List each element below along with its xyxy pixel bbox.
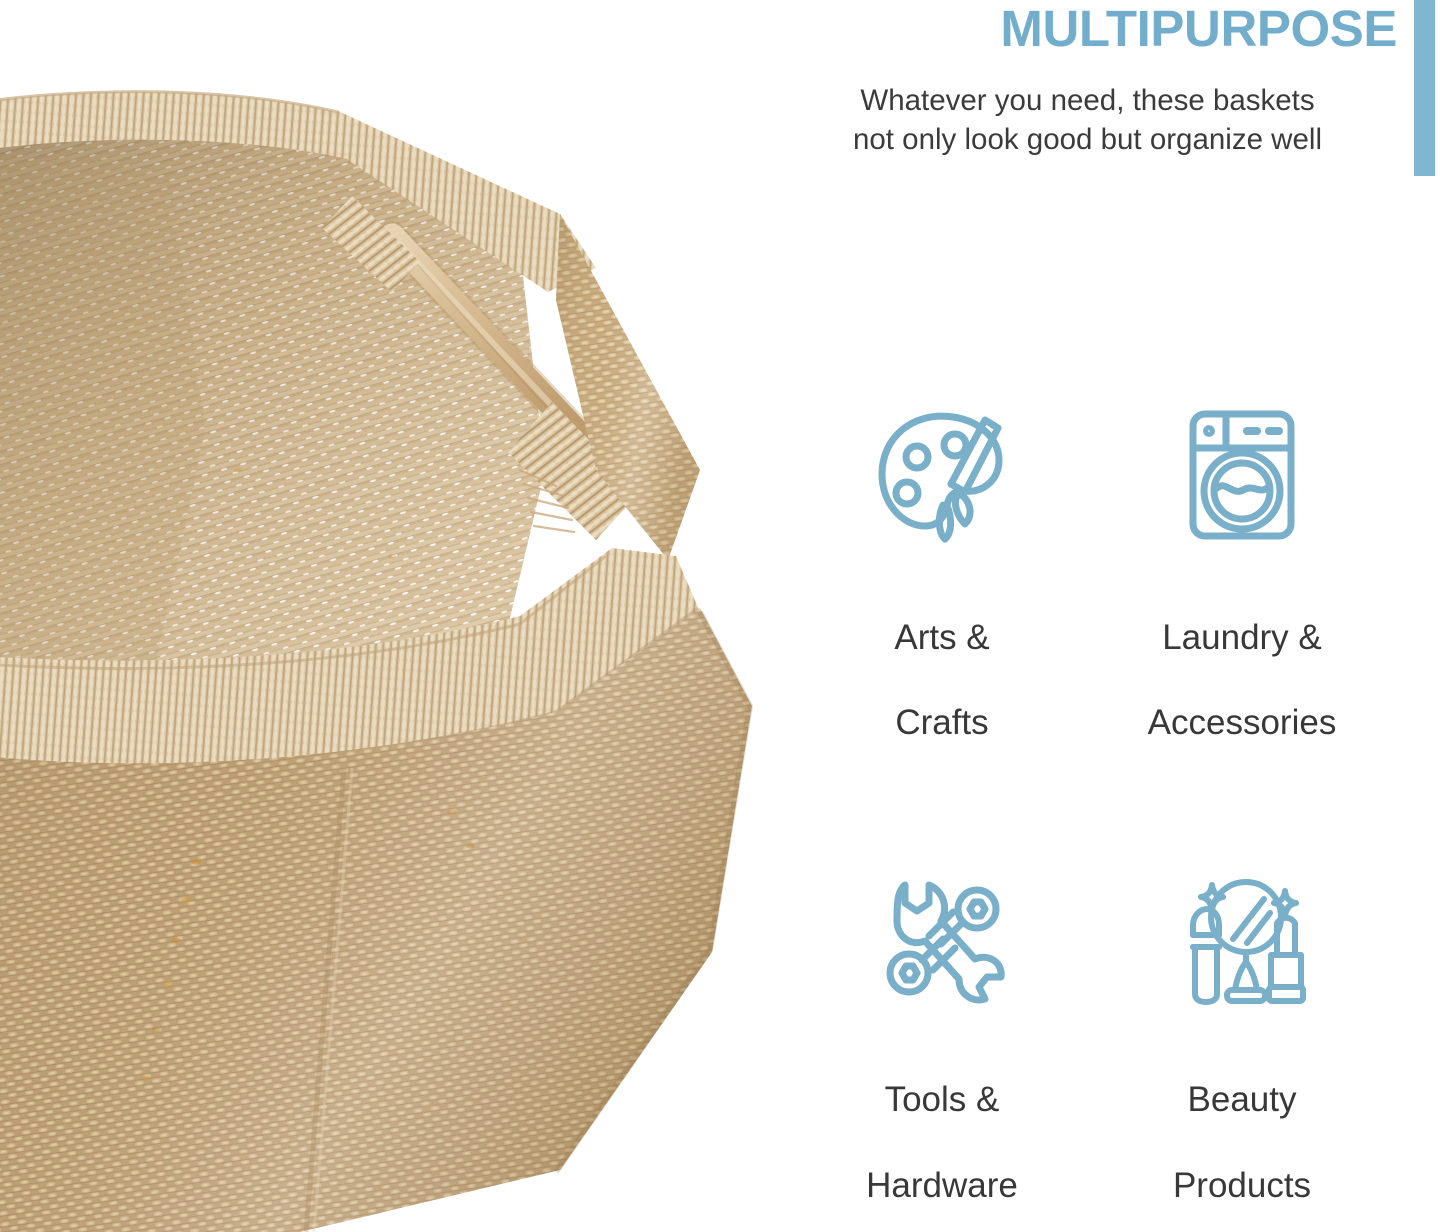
subtitle: Whatever you need, these baskets not onl… (778, 82, 1397, 160)
feature-label: Beauty Products (1173, 1037, 1311, 1208)
feature-label-line-1: Tools & (885, 1080, 1000, 1119)
product-infographic: MULTIPURPOSE Whatever you need, these ba… (0, 0, 1445, 1232)
washing-machine-icon (1167, 400, 1317, 550)
accent-bar (1414, 0, 1435, 176)
feature-label: Tools & Hardware (866, 1037, 1018, 1208)
crossed-wrenches-icon (867, 863, 1017, 1013)
feature-item-beauty-products: Beauty Products (1092, 863, 1392, 1208)
feature-label: Laundry & Accessories (1148, 574, 1337, 745)
feature-label-line-2: Accessories (1148, 703, 1337, 742)
product-photo (0, 0, 770, 1232)
info-pane: MULTIPURPOSE Whatever you need, these ba… (770, 0, 1445, 1232)
vanity-mirror-makeup-icon (1167, 863, 1317, 1013)
feature-label-line-2: Crafts (895, 703, 988, 742)
feature-label-line-1: Arts & (894, 618, 989, 657)
page-title: MULTIPURPOSE (770, 2, 1397, 56)
subtitle-line-2: not only look good but organize well (778, 121, 1397, 160)
feature-item-laundry-accessories: Laundry & Accessories (1092, 400, 1392, 745)
feature-label-line-2: Products (1173, 1166, 1311, 1205)
feature-label-line-2: Hardware (866, 1166, 1018, 1205)
subtitle-line-1: Whatever you need, these baskets (860, 84, 1314, 117)
feature-item-tools-hardware: Tools & Hardware (792, 863, 1092, 1208)
feature-item-arts-crafts: Arts & Crafts (792, 400, 1092, 745)
feature-grid: Arts & Crafts (792, 400, 1392, 1208)
basket-illustration (0, 0, 770, 1232)
feature-label: Arts & Crafts (894, 574, 989, 745)
feature-label-line-1: Laundry & (1162, 618, 1322, 657)
paint-palette-icon (867, 400, 1017, 550)
feature-label-line-1: Beauty (1188, 1080, 1297, 1119)
